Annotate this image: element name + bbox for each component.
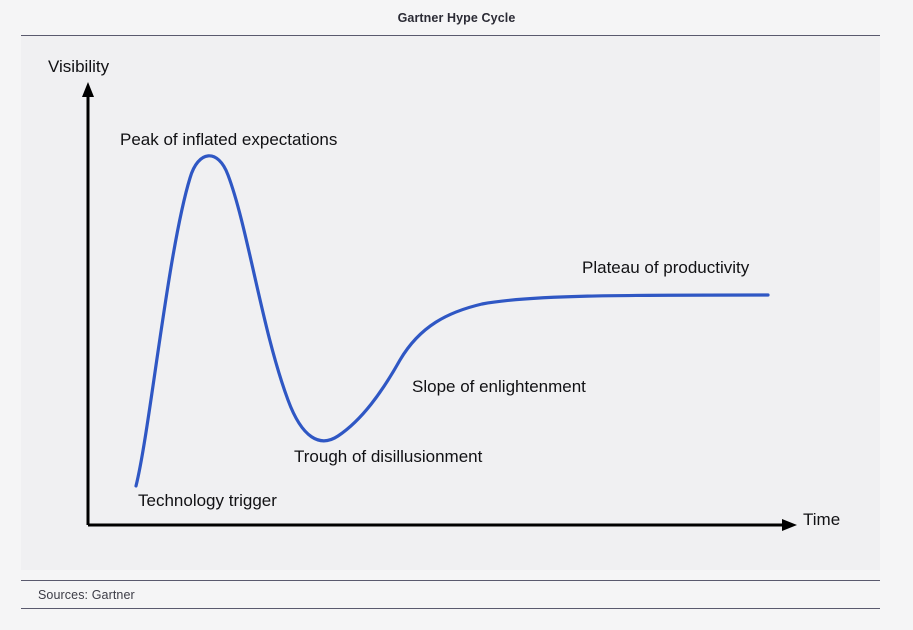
annotation-slope-of-enlightenment: Slope of enlightenment <box>412 377 586 397</box>
x-axis-arrowhead <box>782 519 797 531</box>
annotation-trough-of-disillusionment: Trough of disillusionment <box>294 447 482 467</box>
hype-cycle-figure: Gartner Hype Cycle Visibility Time Peak … <box>0 0 913 630</box>
y-axis-arrowhead <box>82 82 94 97</box>
hype-cycle-curve <box>136 156 768 486</box>
x-axis-label: Time <box>803 510 840 530</box>
sources-note: Sources: Gartner <box>38 588 135 602</box>
annotation-technology-trigger: Technology trigger <box>138 491 277 511</box>
annotation-plateau-of-productivity: Plateau of productivity <box>582 258 749 278</box>
divider-above-sources <box>21 580 880 581</box>
annotation-peak-of-inflated-expectations: Peak of inflated expectations <box>120 130 337 150</box>
divider-below-sources <box>21 608 880 609</box>
y-axis-label: Visibility <box>48 57 109 77</box>
plot-canvas <box>0 0 913 630</box>
